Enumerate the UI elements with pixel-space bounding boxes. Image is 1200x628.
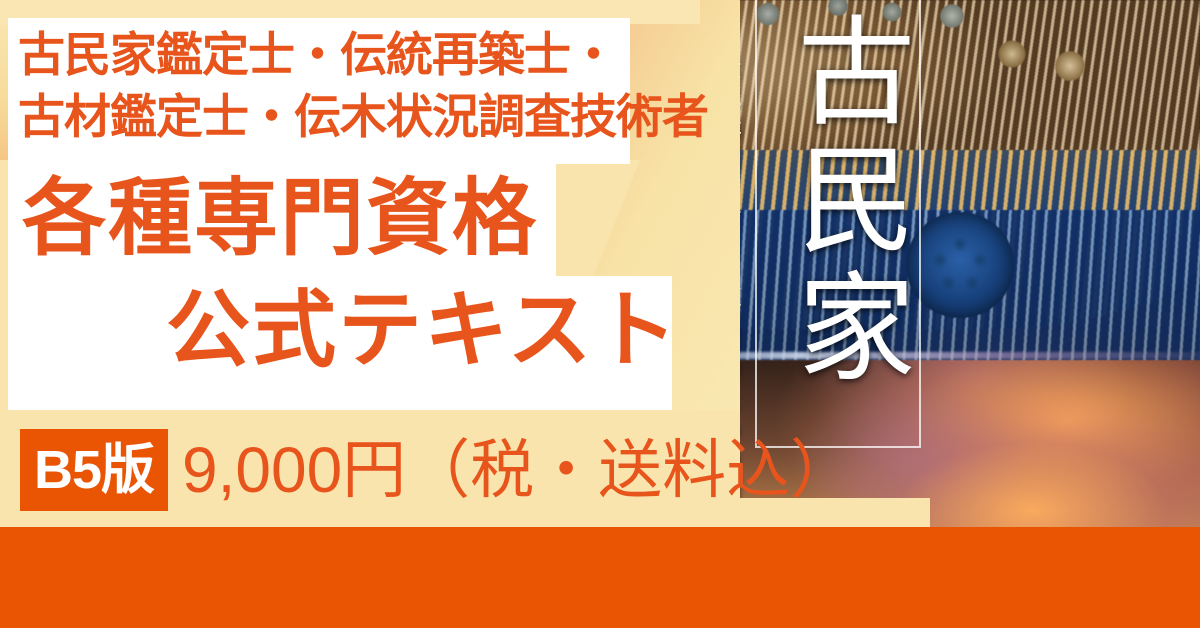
- family-crest-medallion: [906, 212, 1014, 318]
- cta-bar[interactable]: 詳細・ご購入はこちら: [0, 527, 1200, 628]
- format-badge: B5版: [20, 429, 168, 511]
- qualification-list: 古民家鑑定士・伝統再築士・ 古材鑑定士・伝木状況調査技術者: [18, 24, 718, 148]
- qualification-line-2: 古材鑑定士・伝木状況調査技術者: [18, 86, 718, 148]
- qualification-line-1: 古民家鑑定士・伝統再築士・: [18, 24, 718, 86]
- headline-line-2: 公式テキスト: [166, 288, 679, 372]
- headline-line-1: 各種専門資格: [22, 176, 538, 260]
- book-title-vertical: 古民家: [760, 10, 910, 394]
- promo-banner: 古民家 伝統構法 古民家活用のための調査と再生の 古民家鑑定士・伝統再築士・ 古…: [0, 0, 1200, 628]
- price-amount: 9,000円（税・送料込）: [182, 432, 854, 508]
